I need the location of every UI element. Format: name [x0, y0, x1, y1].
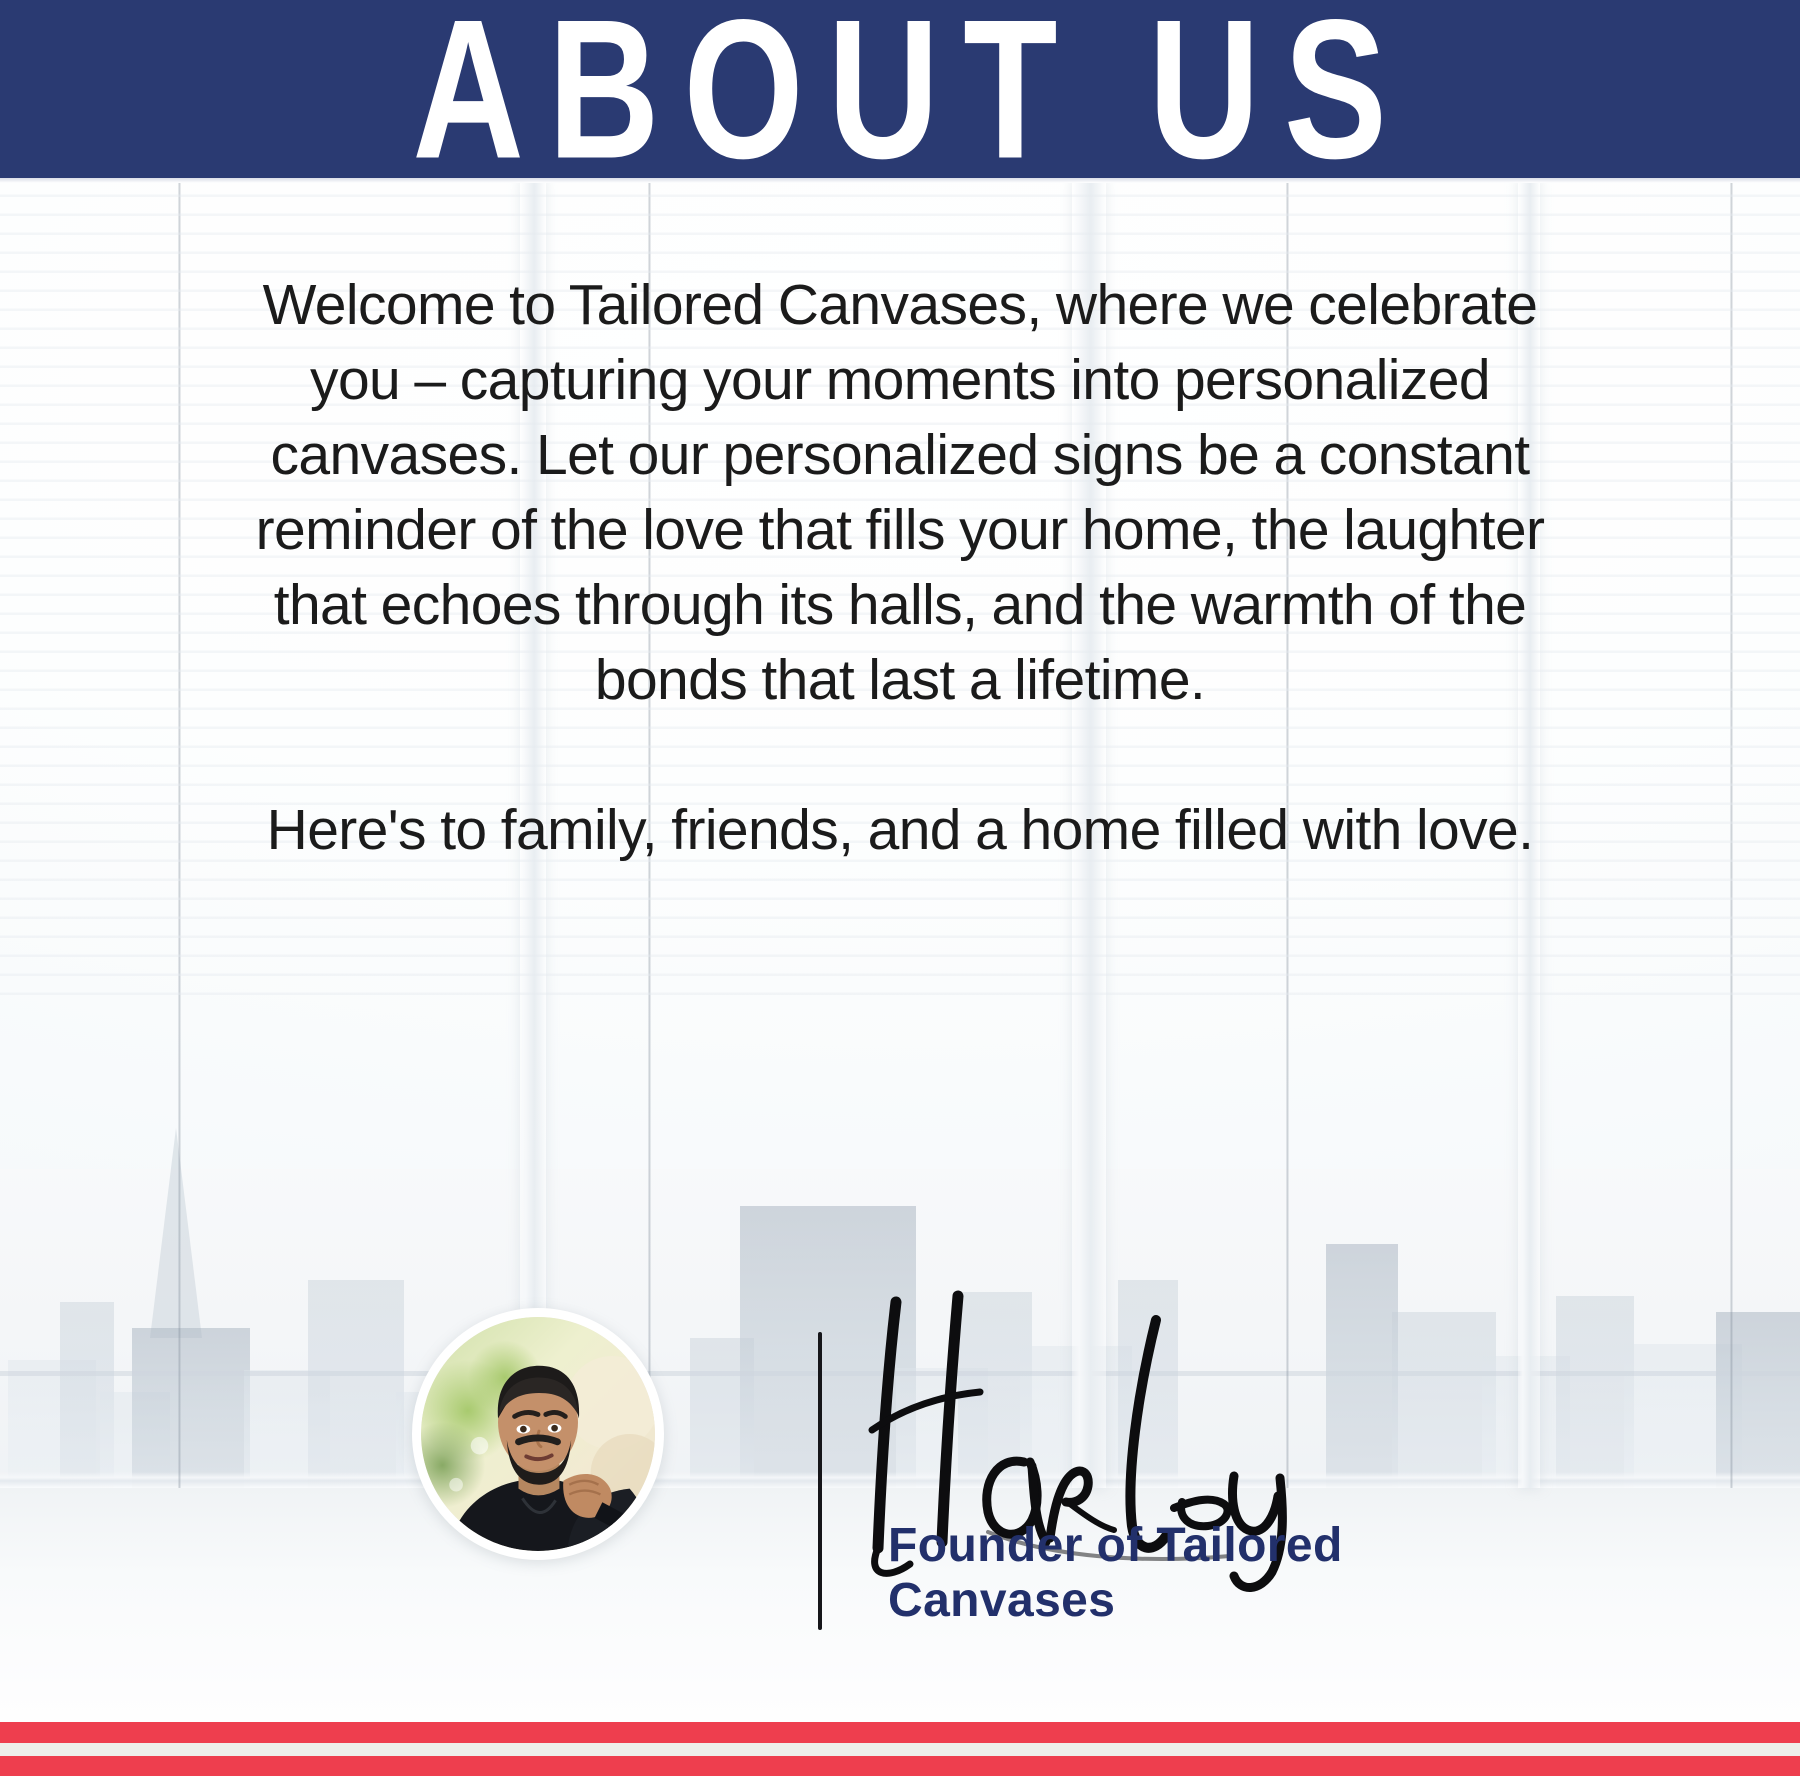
closing-paragraph: Here's to family, friends, and a home fi…: [235, 793, 1565, 868]
banner-underline: [0, 178, 1800, 183]
about-us-poster: ABOUT US Welcome to Tailored Canvases, w…: [0, 0, 1800, 1776]
avatar: [412, 1308, 664, 1560]
footer-stripe-bottom: [0, 1756, 1800, 1776]
footer-stripe-gap: [0, 1743, 1800, 1756]
page-title: ABOUT US: [389, 0, 1411, 188]
about-us-copy: Welcome to Tailored Canvases, where we c…: [235, 268, 1565, 868]
footer-stripe-top: [0, 1722, 1800, 1743]
paragraph-spacer: [235, 718, 1565, 793]
intro-paragraph: Welcome to Tailored Canvases, where we c…: [235, 268, 1565, 718]
founder-signature: [838, 1280, 1398, 1580]
about-us-banner: ABOUT US: [0, 0, 1800, 178]
